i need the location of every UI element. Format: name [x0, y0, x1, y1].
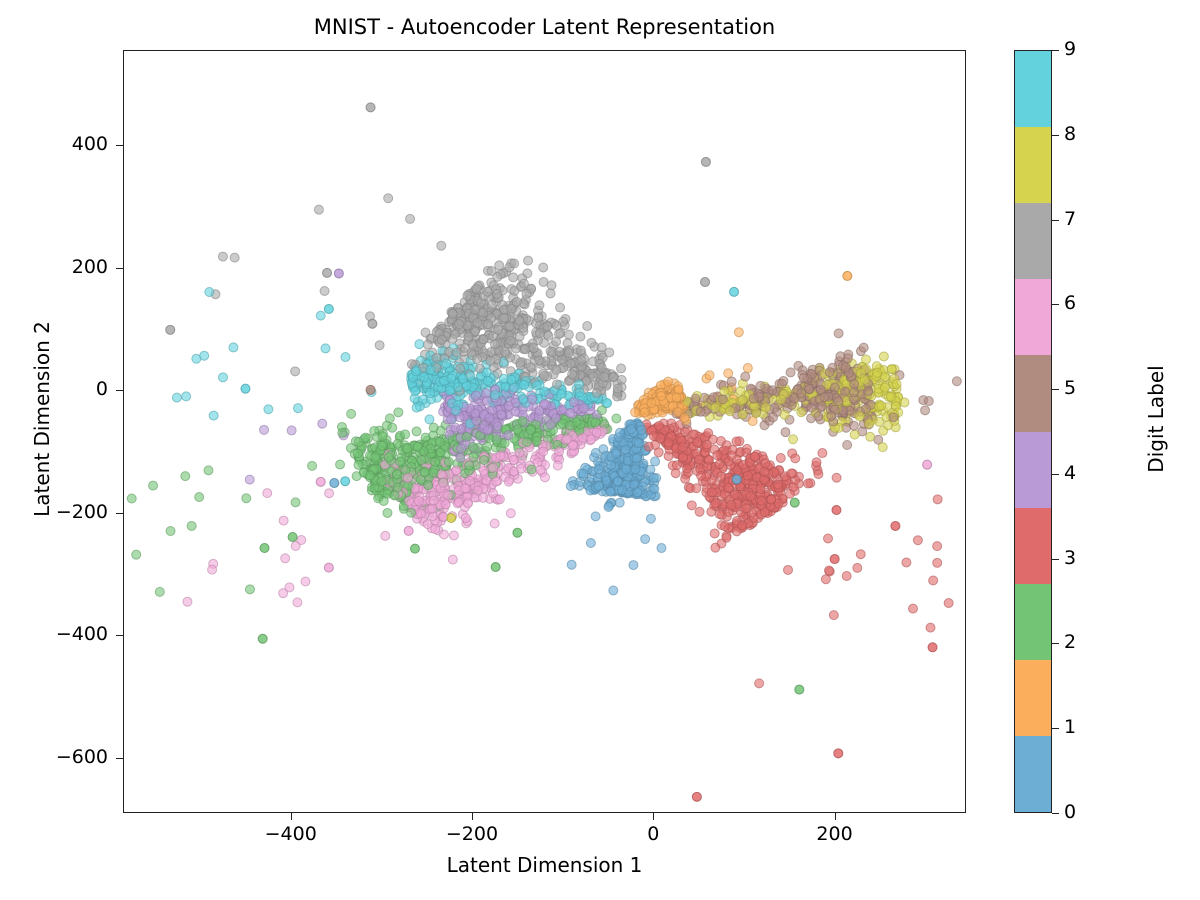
colorbar-tick-mark: [1052, 813, 1059, 814]
colorbar-segment-7: [1015, 203, 1051, 279]
x-tick-mark: [653, 813, 654, 820]
x-axis-label: Latent Dimension 1: [123, 853, 966, 877]
colorbar-tick-mark: [1052, 304, 1059, 305]
x-tick-label: −400: [265, 825, 317, 844]
y-tick-label: −400: [0, 625, 108, 644]
y-tick-mark: [116, 145, 123, 146]
colorbar-segment-2: [1015, 584, 1051, 660]
colorbar-segment-9: [1015, 51, 1051, 127]
colorbar-tick-label: 9: [1064, 40, 1076, 59]
colorbar-segment-4: [1015, 432, 1051, 508]
y-tick-mark: [116, 513, 123, 514]
x-tick-label: 200: [816, 825, 852, 844]
colorbar-tick-mark: [1052, 50, 1059, 51]
colorbar-tick-label: 4: [1064, 464, 1076, 483]
y-tick-mark: [116, 758, 123, 759]
y-tick-label: 0: [0, 380, 108, 399]
colorbar-tick-label: 0: [1064, 803, 1076, 822]
colorbar-segment-6: [1015, 279, 1051, 355]
y-tick-mark: [116, 390, 123, 391]
colorbar-tick-label: 2: [1064, 633, 1076, 652]
y-tick-mark: [116, 635, 123, 636]
x-tick-mark: [472, 813, 473, 820]
x-tick-label: −200: [446, 825, 498, 844]
colorbar-tick-mark: [1052, 220, 1059, 221]
colorbar-tick-mark: [1052, 389, 1059, 390]
colorbar-tick-label: 8: [1064, 125, 1076, 144]
colorbar-segment-1: [1015, 660, 1051, 736]
y-tick-label: −600: [0, 748, 108, 767]
y-tick-label: −200: [0, 503, 108, 522]
colorbar-tick-label: 7: [1064, 210, 1076, 229]
y-tick-mark: [116, 268, 123, 269]
x-tick-mark: [291, 813, 292, 820]
colorbar-segment-8: [1015, 127, 1051, 203]
colorbar-tick-mark: [1052, 728, 1059, 729]
figure-canvas-container: MNIST - Autoencoder Latent Representatio…: [0, 0, 1200, 900]
y-tick-label: 200: [0, 258, 108, 277]
colorbar-tick-mark: [1052, 135, 1059, 136]
colorbar-tick-mark: [1052, 559, 1059, 560]
colorbar-tick-mark: [1052, 474, 1059, 475]
colorbar-tick-mark: [1052, 643, 1059, 644]
colorbar-tick-label: 3: [1064, 549, 1076, 568]
colorbar-tick-label: 6: [1064, 294, 1076, 313]
scatter-plot-canvas: [124, 51, 967, 814]
chart-title: MNIST - Autoencoder Latent Representatio…: [123, 14, 966, 40]
plot-axes-frame: [123, 50, 966, 813]
y-tick-label: 400: [0, 135, 108, 154]
colorbar-segment-3: [1015, 508, 1051, 584]
x-tick-label: 0: [647, 825, 659, 844]
x-tick-mark: [835, 813, 836, 820]
colorbar-tick-label: 1: [1064, 718, 1076, 737]
colorbar-label: Digit Label: [1144, 269, 1168, 569]
colorbar: [1014, 50, 1052, 813]
colorbar-segment-0: [1015, 736, 1051, 812]
colorbar-segment-5: [1015, 355, 1051, 431]
colorbar-tick-label: 5: [1064, 379, 1076, 398]
y-axis-label: Latent Dimension 2: [30, 269, 54, 569]
